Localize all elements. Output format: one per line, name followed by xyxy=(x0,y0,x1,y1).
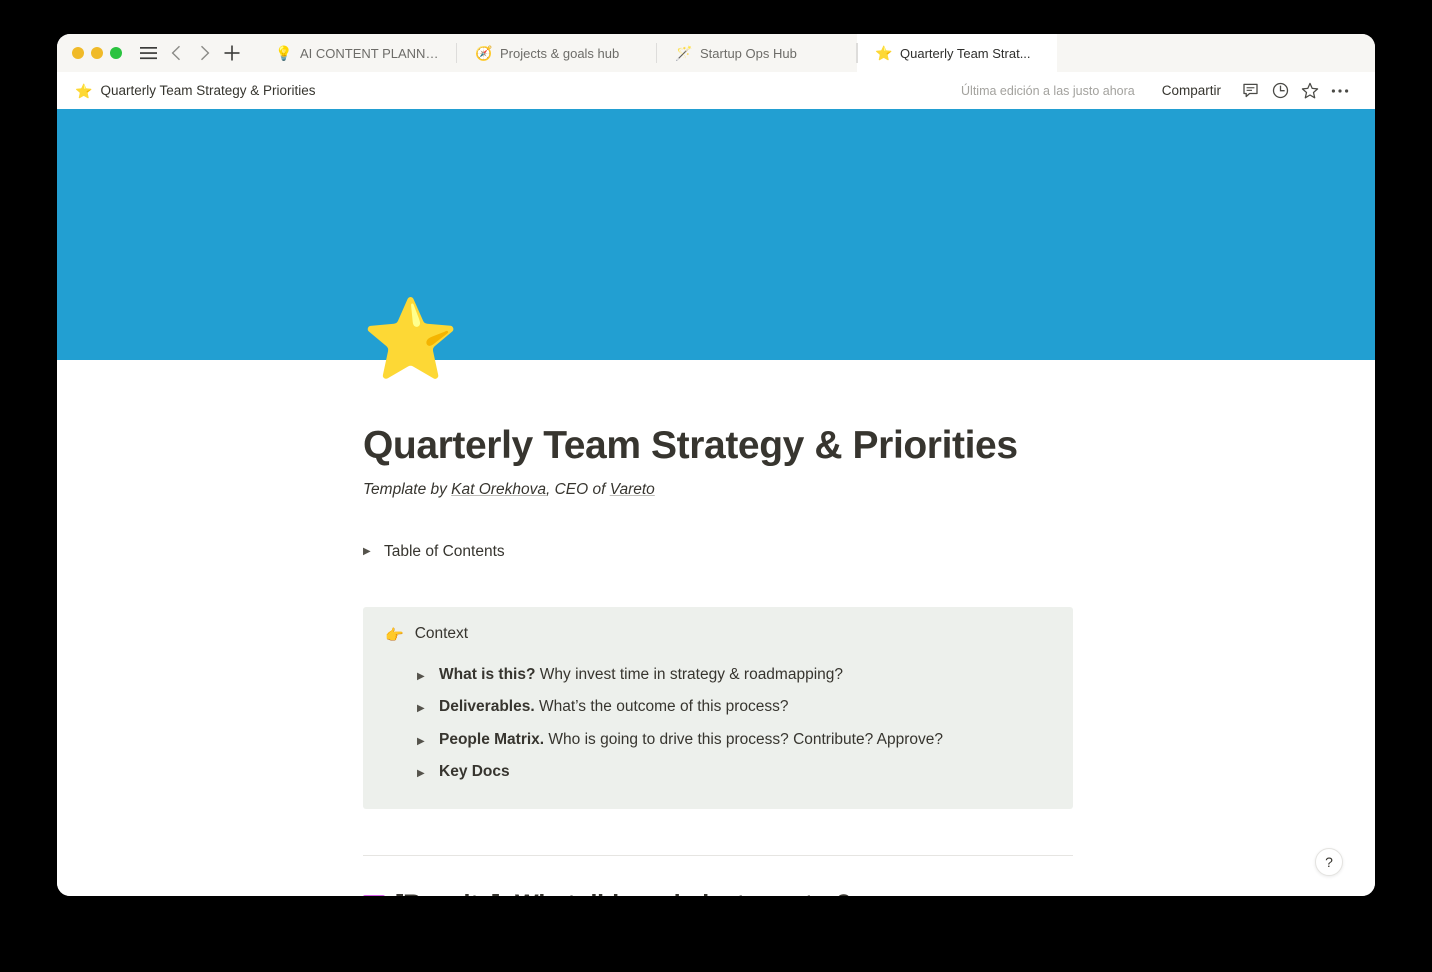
comment-icon[interactable] xyxy=(1235,78,1265,104)
maximize-window-button[interactable] xyxy=(110,47,122,59)
toggle-rest: Why invest time in strategy & roadmappin… xyxy=(535,666,843,683)
callout-toggle-deliverables[interactable]: ▶ Deliverables. What’s the outcome of th… xyxy=(417,691,1053,723)
navigation-controls xyxy=(131,34,245,72)
context-callout: 👉 Context ▶ What is this? Why invest tim… xyxy=(363,607,1073,809)
byline-company-link[interactable]: Vareto xyxy=(610,481,655,498)
section-divider xyxy=(363,855,1073,856)
toggle-text: Deliverables. What’s the outcome of this… xyxy=(439,696,789,718)
toggle-bold-label: What is this? xyxy=(439,666,535,683)
more-options-icon[interactable] xyxy=(1325,78,1355,104)
chevron-right-icon[interactable]: ▶ xyxy=(417,672,428,682)
help-button[interactable]: ? xyxy=(1315,848,1343,876)
toggle-text: What is this? Why invest time in strateg… xyxy=(439,664,843,686)
toggle-rest: Who is going to drive this process? Cont… xyxy=(544,731,943,748)
toggle-bold-label: Deliverables. xyxy=(439,698,535,715)
byline-prefix: Template by xyxy=(363,481,451,498)
lightbulb-icon: 💡 xyxy=(275,46,291,60)
sidebar-menu-icon[interactable] xyxy=(135,40,161,66)
byline-author-link[interactable]: Kat Orekhova xyxy=(451,481,546,498)
star-icon: ⭐ xyxy=(75,84,92,98)
byline-middle: , CEO of xyxy=(546,481,610,498)
pointing-right-hand-icon: 👉 xyxy=(385,625,404,647)
tab-list: 💡 AI CONTENT PLANNI... 🧭 Projects & goal… xyxy=(257,34,1375,72)
tab-label: Projects & goals hub xyxy=(500,46,619,61)
history-clock-icon[interactable] xyxy=(1265,78,1295,104)
page-scroll-area[interactable]: ⭐ Quarterly Team Strategy & Priorities T… xyxy=(57,109,1375,896)
last-edited-status: Última edición a las justo ahora xyxy=(961,84,1135,98)
tab-label: Quarterly Team Strat... xyxy=(900,46,1031,61)
chevron-right-icon[interactable]: ▶ xyxy=(417,769,428,779)
tab-startup-ops-hub[interactable]: 🪄 Startup Ops Hub xyxy=(657,34,857,72)
tab-quarterly-team-strategy[interactable]: ⭐ Quarterly Team Strat... xyxy=(857,34,1057,72)
browser-window: 💡 AI CONTENT PLANNI... 🧭 Projects & goal… xyxy=(57,34,1375,896)
page-body: ⭐ Quarterly Team Strategy & Priorities T… xyxy=(57,360,1375,896)
document-header-actions: Última edición a las justo ahora Compart… xyxy=(961,78,1355,104)
page-title[interactable]: Quarterly Team Strategy & Priorities xyxy=(363,360,1315,469)
results-heading-text: [Results]: What did we do last quarter? xyxy=(395,890,851,896)
chevron-right-icon[interactable] xyxy=(191,40,217,66)
toggle-bold-label: People Matrix. xyxy=(439,731,544,748)
tab-strip: 💡 AI CONTENT PLANNI... 🧭 Projects & goal… xyxy=(57,34,1375,72)
purple-square-icon xyxy=(363,895,385,896)
share-button[interactable]: Compartir xyxy=(1153,79,1230,102)
callout-toggle-people-matrix[interactable]: ▶ People Matrix. Who is going to drive t… xyxy=(417,724,1053,756)
chevron-right-icon[interactable]: ▶ xyxy=(417,704,428,714)
chevron-right-icon[interactable]: ▶ xyxy=(417,737,428,747)
page-byline: Template by Kat Orekhova, CEO of Vareto xyxy=(363,481,1315,499)
page-cover-image[interactable] xyxy=(57,109,1375,360)
table-of-contents-label: Table of Contents xyxy=(384,543,505,561)
compass-icon: 🧭 xyxy=(475,46,491,60)
tab-strip-empty-area xyxy=(1057,34,1375,72)
toggle-text: Key Docs xyxy=(439,761,510,783)
close-window-button[interactable] xyxy=(72,47,84,59)
minimize-window-button[interactable] xyxy=(91,47,103,59)
screenshot-stage: 💡 AI CONTENT PLANNI... 🧭 Projects & goal… xyxy=(0,0,1432,972)
callout-header: 👉 Context xyxy=(385,625,1053,647)
chevron-right-icon[interactable]: ▶ xyxy=(363,547,374,557)
callout-toggle-key-docs[interactable]: ▶ Key Docs xyxy=(417,756,1053,788)
breadcrumb-title: Quarterly Team Strategy & Priorities xyxy=(100,83,315,98)
callout-toggle-what-is-this[interactable]: ▶ What is this? Why invest time in strat… xyxy=(417,659,1053,691)
tab-projects-goals-hub[interactable]: 🧭 Projects & goals hub xyxy=(457,34,657,72)
tab-label: AI CONTENT PLANNI... xyxy=(300,46,439,61)
toggle-text: People Matrix. Who is going to drive thi… xyxy=(439,729,943,751)
plus-icon[interactable] xyxy=(219,40,245,66)
tab-label: Startup Ops Hub xyxy=(700,46,797,61)
toggle-rest: What’s the outcome of this process? xyxy=(535,698,789,715)
toggle-bold-label: Key Docs xyxy=(439,763,510,780)
results-section-heading[interactable]: [Results]: What did we do last quarter? xyxy=(363,890,1315,896)
document-header-bar: ⭐ Quarterly Team Strategy & Priorities Ú… xyxy=(57,72,1375,109)
magic-wand-icon: 🪄 xyxy=(675,46,691,60)
callout-heading: Context xyxy=(415,625,468,643)
star-icon: ⭐ xyxy=(875,46,891,60)
breadcrumb[interactable]: ⭐ Quarterly Team Strategy & Priorities xyxy=(75,83,316,98)
favorite-star-icon[interactable] xyxy=(1295,78,1325,104)
tab-ai-content-planning[interactable]: 💡 AI CONTENT PLANNI... xyxy=(257,34,457,72)
table-of-contents-toggle[interactable]: ▶ Table of Contents xyxy=(363,543,1315,561)
chevron-left-icon[interactable] xyxy=(163,40,189,66)
window-controls xyxy=(57,34,131,72)
callout-toggle-list: ▶ What is this? Why invest time in strat… xyxy=(385,659,1053,789)
page-icon-star[interactable]: ⭐ xyxy=(362,300,459,378)
